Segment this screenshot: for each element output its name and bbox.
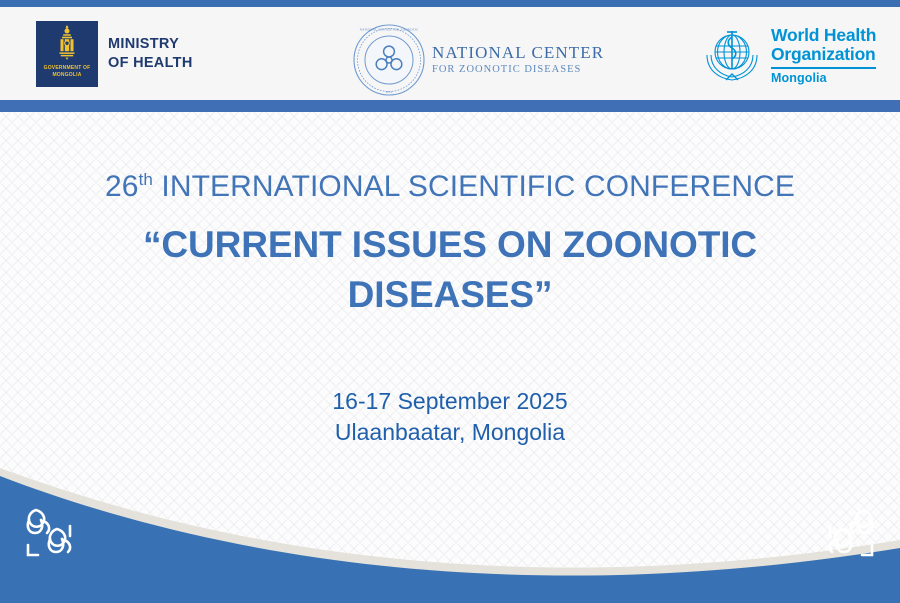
national-center-name-line-2: FOR ZOONOTIC DISEASES: [432, 65, 604, 76]
conference-dates: 16-17 September 2025: [332, 386, 567, 417]
mongolian-knot-ornament-right: [818, 503, 884, 565]
conference-title: “CURRENT ISSUES ON ZOONOTIC DISEASES”: [130, 220, 770, 320]
national-center-logo: NATIONAL CENTER FOR ZOONOTIC 1951 NATION…: [352, 23, 604, 97]
conference-heading-text: INTERNATIONAL SCIENTIFIC CONFERENCE: [153, 170, 795, 203]
who-divider: [771, 67, 876, 69]
who-name-line-1: World Health: [771, 26, 876, 45]
svg-text:NATIONAL CENTER FOR ZOONOTIC: NATIONAL CENTER FOR ZOONOTIC: [360, 28, 419, 32]
emblem-caption: GOVERNMENT OF MONGOLIA: [44, 65, 91, 79]
ministry-of-health-logo: GOVERNMENT OF MONGOLIA MINISTRY OF HEALT…: [36, 21, 193, 87]
bottom-wave-decoration: [0, 468, 900, 603]
svg-text:1951: 1951: [386, 90, 393, 94]
ministry-name-line-1: MINISTRY: [108, 35, 193, 54]
ministry-of-health-name: MINISTRY OF HEALTH: [108, 35, 193, 73]
national-center-name: NATIONAL CENTER FOR ZOONOTIC DISEASES: [432, 44, 604, 76]
conference-number: 26: [105, 170, 139, 203]
main-content: 26th INTERNATIONAL SCIENTIFIC CONFERENCE…: [0, 112, 900, 478]
who-name: World Health Organization Mongolia: [771, 25, 876, 85]
conference-heading: 26th INTERNATIONAL SCIENTIFIC CONFERENCE: [105, 170, 795, 204]
ministry-name-line-2: OF HEALTH: [108, 54, 193, 73]
who-name-line-2: Organization: [771, 45, 876, 64]
top-accent-bar: [0, 0, 900, 7]
national-center-name-line-1: NATIONAL CENTER: [432, 44, 604, 61]
who-emblem-icon: [700, 25, 764, 87]
soyombo-icon: [54, 24, 80, 64]
conference-meta: 16-17 September 2025 Ulaanbaatar, Mongol…: [332, 386, 567, 448]
zoonotic-seal-icon: NATIONAL CENTER FOR ZOONOTIC 1951: [352, 23, 426, 97]
conference-title-slide: GOVERNMENT OF MONGOLIA MINISTRY OF HEALT…: [0, 0, 900, 603]
who-country-label: Mongolia: [771, 71, 876, 85]
logo-row: GOVERNMENT OF MONGOLIA MINISTRY OF HEALT…: [0, 7, 900, 100]
who-logo: World Health Organization Mongolia: [700, 25, 876, 87]
conference-ordinal-suffix: th: [139, 170, 153, 189]
header-separator-bar: [0, 100, 900, 112]
mongolian-knot-ornament-left: [16, 503, 82, 565]
mongolia-government-emblem: GOVERNMENT OF MONGOLIA: [36, 21, 98, 87]
conference-location: Ulaanbaatar, Mongolia: [332, 417, 567, 448]
